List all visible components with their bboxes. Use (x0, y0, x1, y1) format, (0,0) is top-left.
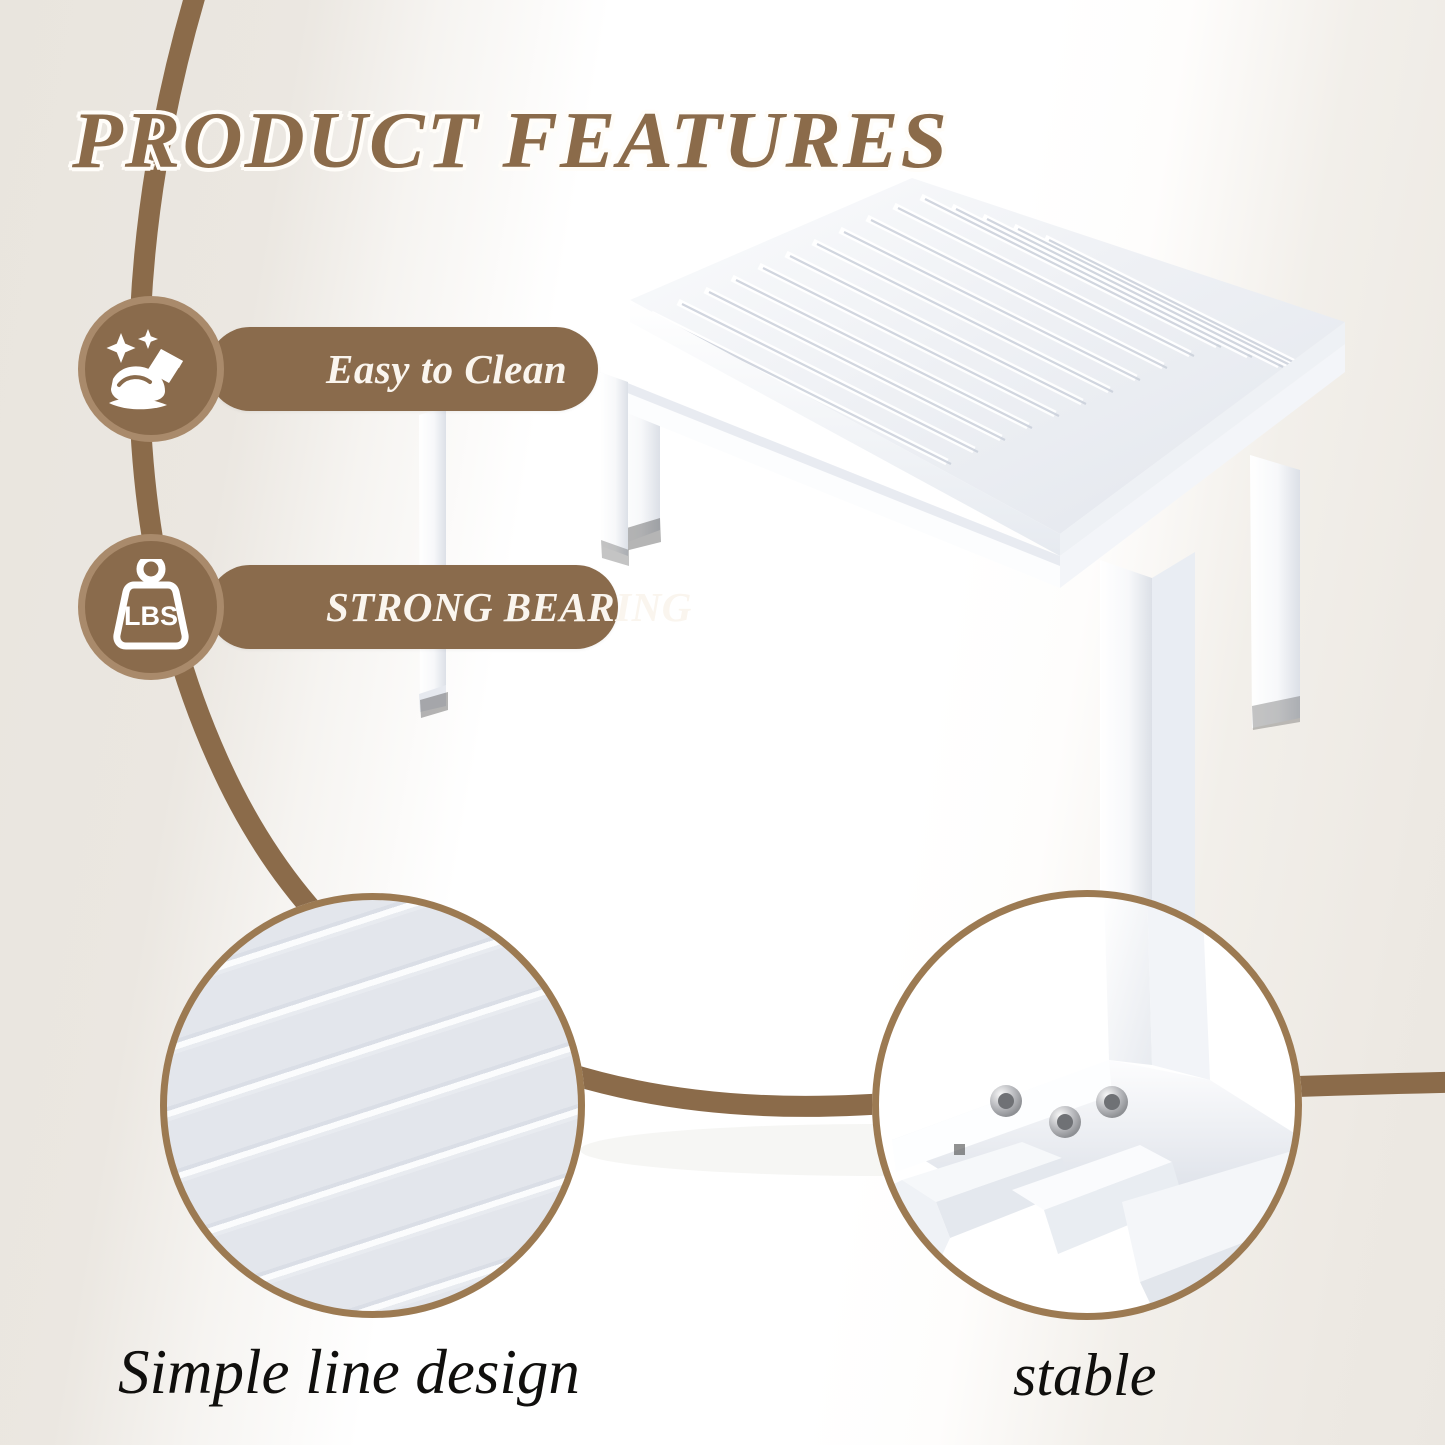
infographic-canvas: PRODUCT FEATURES Easy to Clean ST (0, 0, 1445, 1445)
sparkle-hand-sponge-icon (103, 321, 199, 417)
feature-pill-strong-bearing: STRONG BEARING (208, 565, 618, 649)
feature-pill-easy-to-clean: Easy to Clean (208, 327, 598, 411)
feature-icon-circle-easy-to-clean (78, 296, 224, 442)
detail-caption-simple-line-design: Simple line design (118, 1336, 580, 1409)
table-leg-rear-right (1250, 455, 1300, 730)
tabletop-slat-texture (160, 893, 585, 1318)
detail-caption-stable: stable (1013, 1341, 1156, 1410)
weight-icon-text: LBS (124, 601, 178, 631)
table-top (630, 178, 1345, 556)
page-title: PRODUCT FEATURES (72, 96, 949, 187)
detail-circle-stable (872, 890, 1302, 1320)
frame-corner-joint-closeup (872, 890, 1302, 1320)
screw-head (990, 1085, 1022, 1117)
detail-circle-simple-line-design (160, 893, 585, 1318)
feature-icon-circle-strong-bearing: LBS (78, 534, 224, 680)
feature-badge-strong-bearing[interactable]: STRONG BEARING LBS (78, 534, 618, 680)
feature-badge-easy-to-clean[interactable]: Easy to Clean (78, 296, 598, 442)
feature-label-strong-bearing: STRONG BEARING (326, 583, 692, 631)
screw-head (1049, 1106, 1081, 1138)
screw-head (1096, 1086, 1128, 1118)
feature-label-easy-to-clean: Easy to Clean (326, 345, 567, 393)
weight-lbs-icon: LBS (103, 559, 199, 655)
